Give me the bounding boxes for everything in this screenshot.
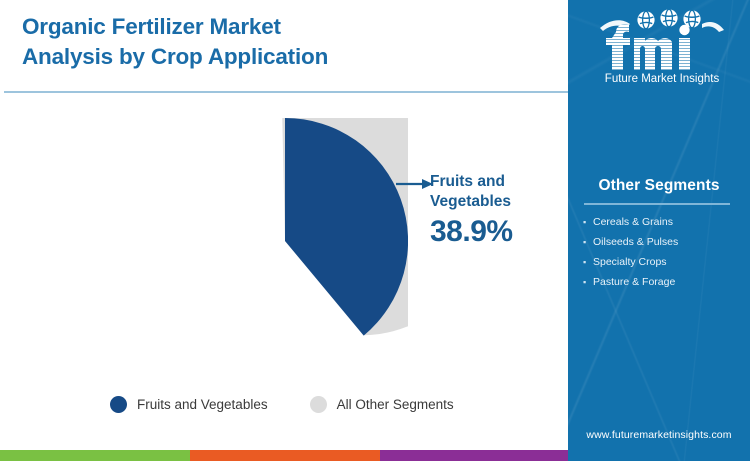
header-divider xyxy=(4,91,568,93)
website-url[interactable]: www.futuremarketinsights.com xyxy=(568,429,750,441)
legend-label: Fruits and Vegetables xyxy=(137,397,268,412)
pie-chart xyxy=(162,118,408,364)
callout-value: 38.9% xyxy=(430,216,560,248)
globe-icon-1 xyxy=(637,11,654,28)
legend-swatch-icon xyxy=(310,396,327,413)
list-item-label: Cereals & Grains xyxy=(593,216,673,229)
list-item: ▪ Pasture & Forage xyxy=(583,272,743,292)
logo-tagline: Future Market Insights xyxy=(605,73,720,85)
bullet-icon: ▪ xyxy=(583,276,593,289)
footer-color-bar xyxy=(0,450,568,461)
footer-bar-segment-orange xyxy=(190,450,380,461)
page-title-line-2: Analysis by Crop Application xyxy=(22,42,522,72)
logo-wordmark xyxy=(606,24,690,70)
list-item-label: Pasture & Forage xyxy=(593,276,675,289)
list-item: ▪ Specialty Crops xyxy=(583,253,743,273)
list-item: ▪ Oilseeds & Pulses xyxy=(583,233,743,253)
bullet-icon: ▪ xyxy=(583,256,593,269)
side-panel: Future Market Insights Other Segments ▪ … xyxy=(568,0,750,461)
footer-bar-segment-green xyxy=(0,450,190,461)
callout-label: Fruits and Vegetables 38.9% xyxy=(430,172,560,247)
other-segments-list: ▪ Cereals & Grains ▪ Oilseeds & Pulses ▪… xyxy=(583,213,743,292)
legend-label: All Other Segments xyxy=(337,397,454,412)
globe-icon-2 xyxy=(660,9,677,26)
logo-swoosh-right xyxy=(702,22,724,32)
footer-bar-segment-purple xyxy=(380,450,568,461)
legend-item-fruits-and-vegetables[interactable]: Fruits and Vegetables xyxy=(110,396,268,413)
bullet-icon: ▪ xyxy=(583,236,593,249)
page-title-line-1: Organic Fertilizer Market xyxy=(22,12,522,42)
chart-area: Organic Fertilizer Market Analysis by Cr… xyxy=(0,0,568,461)
page-title: Organic Fertilizer Market Analysis by Cr… xyxy=(22,12,522,72)
logo-i-dot xyxy=(679,25,689,35)
list-item-label: Oilseeds & Pulses xyxy=(593,236,678,249)
legend-item-all-other-segments[interactable]: All Other Segments xyxy=(310,396,454,413)
callout-label-line-2: Vegetables xyxy=(430,192,560,212)
list-item: ▪ Cereals & Grains xyxy=(583,213,743,233)
side-panel-heading: Other Segments xyxy=(568,177,750,195)
chart-legend: Fruits and Vegetables All Other Segments xyxy=(110,396,454,413)
bullet-icon: ▪ xyxy=(583,216,593,229)
infographic-canvas: Organic Fertilizer Market Analysis by Cr… xyxy=(0,0,750,461)
callout-arrow xyxy=(396,177,434,189)
list-item-label: Specialty Crops xyxy=(593,256,667,269)
side-panel-divider xyxy=(584,203,730,205)
legend-swatch-icon xyxy=(110,396,127,413)
callout-label-line-1: Fruits and xyxy=(430,172,560,192)
fmi-logo[interactable]: Future Market Insights xyxy=(596,6,728,86)
